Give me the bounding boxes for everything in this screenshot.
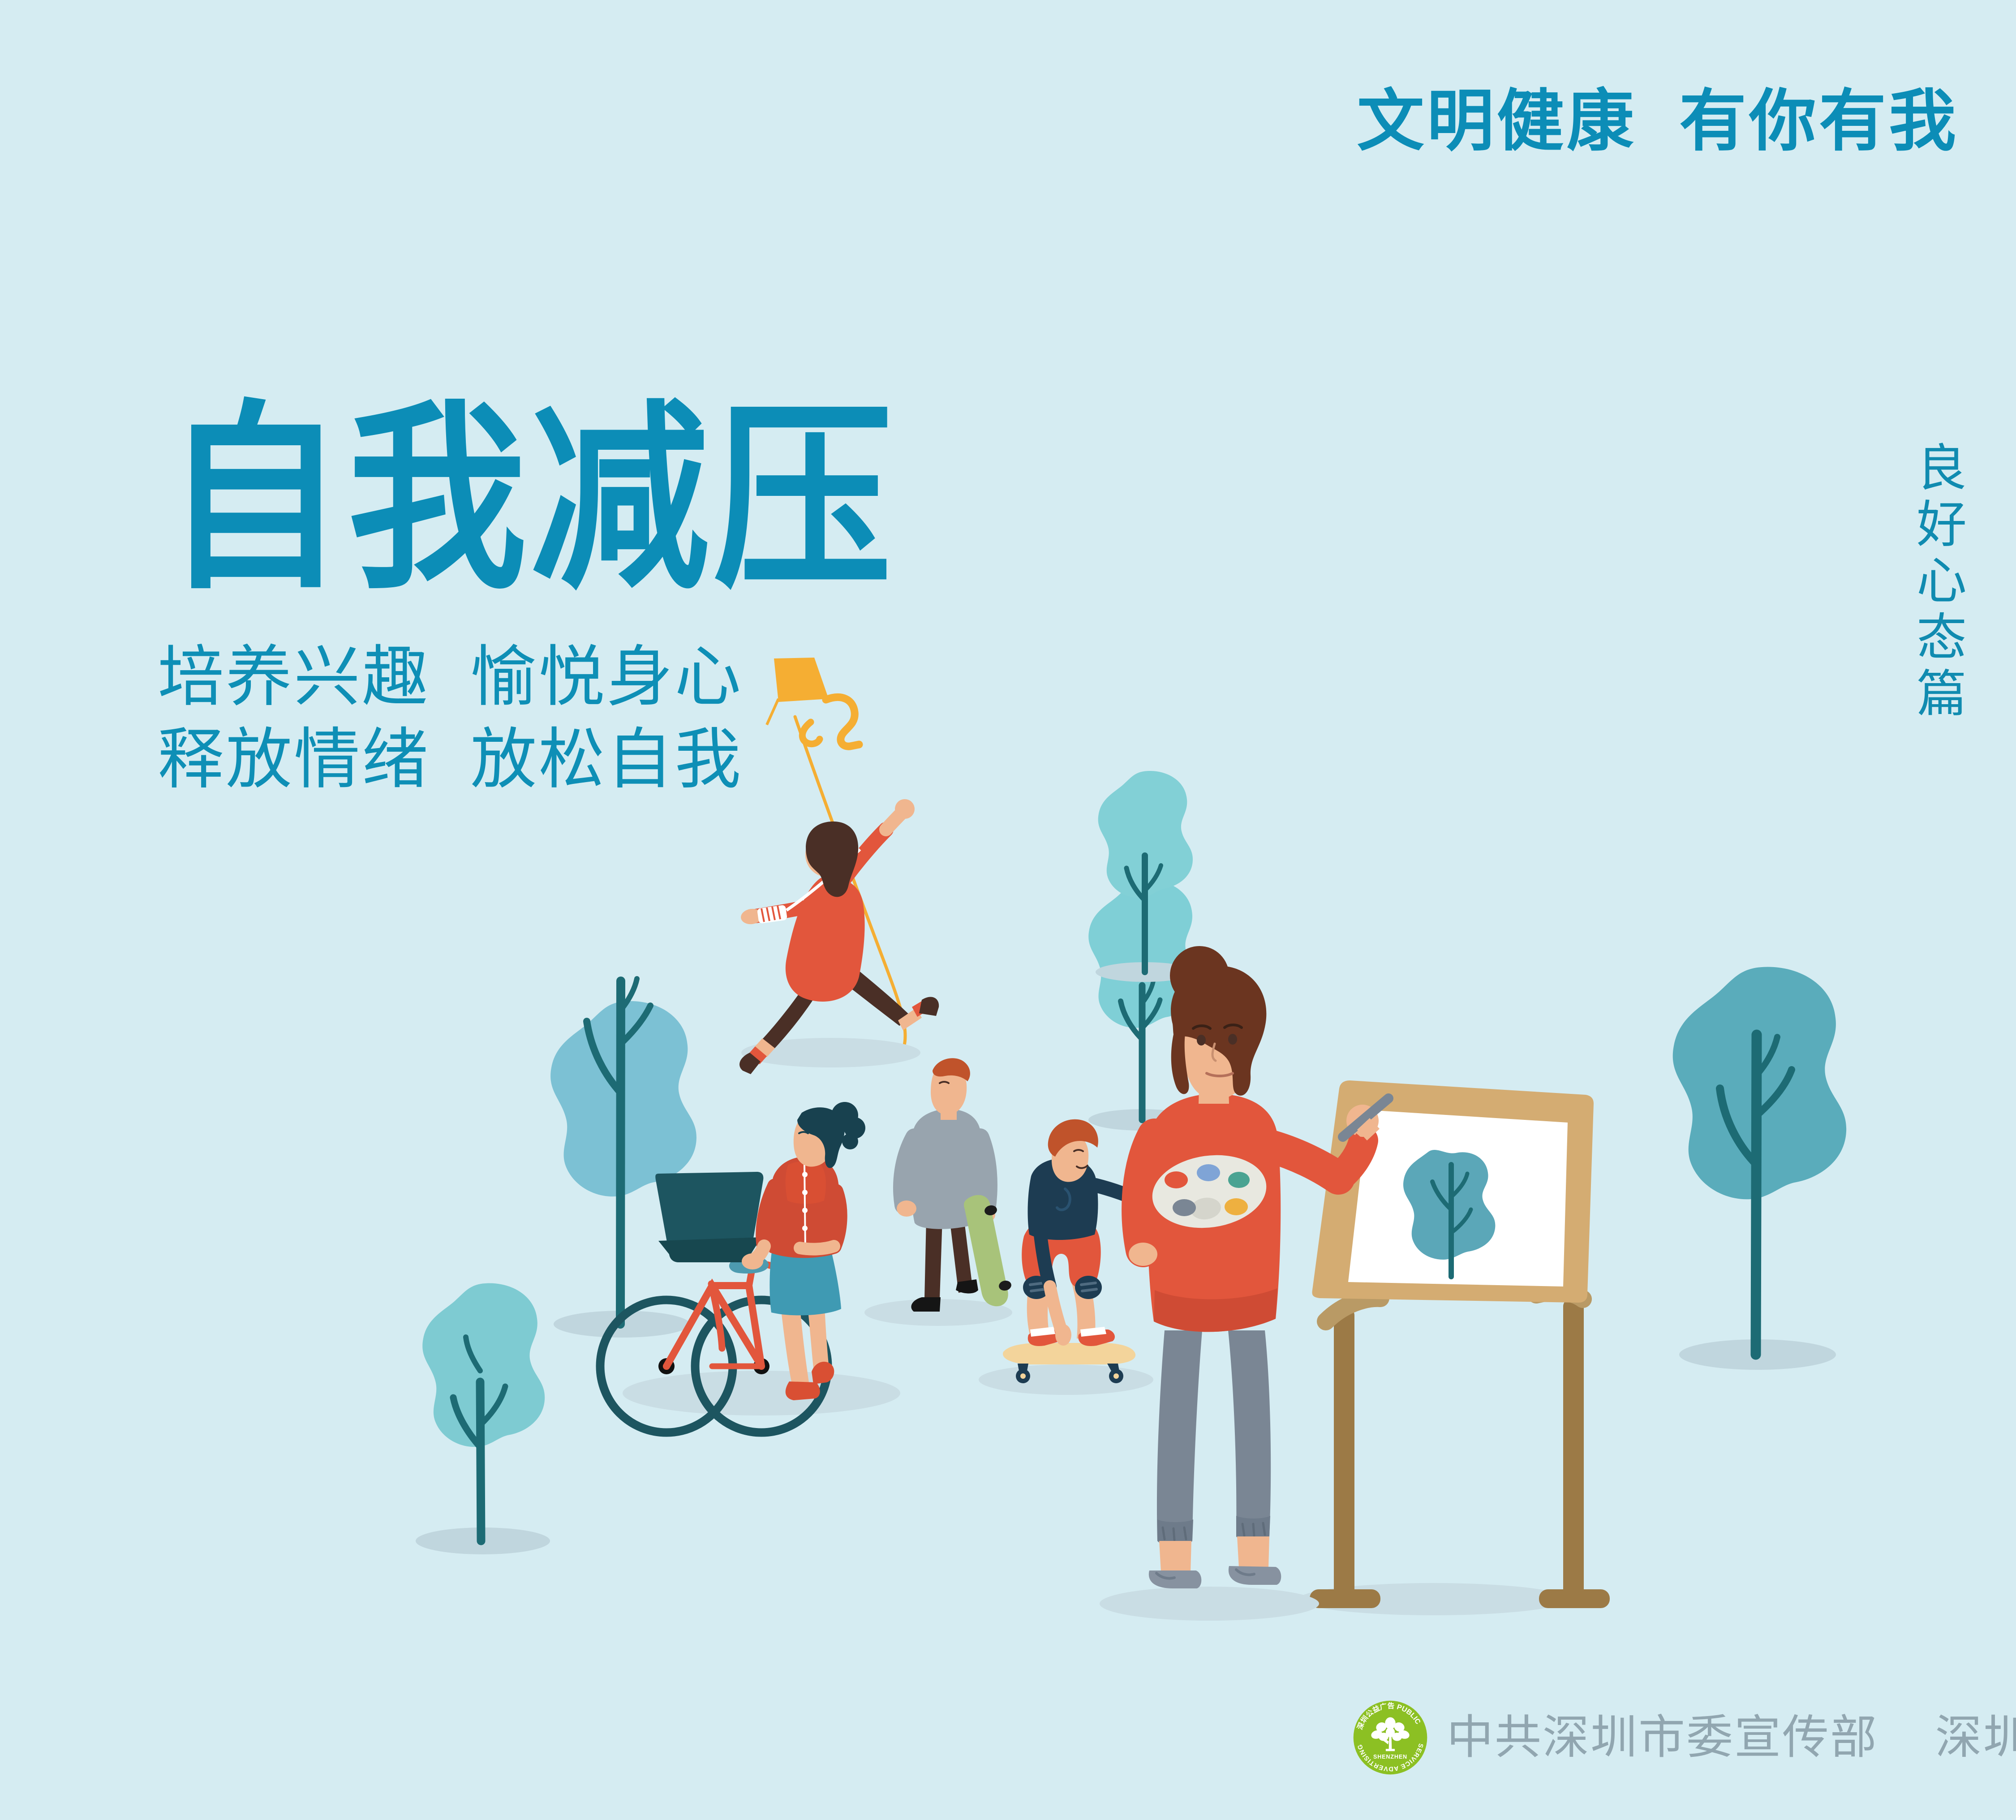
tree-far-left [416,1283,550,1554]
kite-icon [767,658,905,1047]
tree-center-back [1096,771,1194,982]
tree-middle [1088,880,1199,1131]
kite-flying-woman [739,799,939,1074]
series-label: 良好心态篇 [1908,441,1967,723]
shenzhen-public-service-advertising-logo-icon: 深圳公益广告 PUBLIC SERVICE ADVERTISING SHENZH… [1353,1700,1428,1775]
bicycle [600,1172,828,1433]
paint-palette [1148,1148,1271,1235]
canvas-painting-tree [1403,1150,1495,1277]
subtitle-line-1: 培养兴趣 愉悦身心 [158,644,743,710]
skateboard [1003,1343,1135,1383]
footer-organizations: 中共深圳市委宣传部 深圳市文明办 [1447,1714,2016,1761]
tree-right [1673,967,1846,1370]
riding-skater [979,1119,1205,1395]
poster-root: 文明健康 有你有我 [0,0,2016,1820]
standing-skater [864,1058,1012,1326]
subtitle-line-2: 释放情绪 放松自我 [158,727,743,793]
svg-text:SHENZHEN: SHENZHEN [1373,1754,1407,1760]
illustration-scene [0,0,2016,1820]
footer: 深圳公益广告 PUBLIC SERVICE ADVERTISING SHENZH… [1353,1700,2016,1775]
painter-woman [1100,946,1388,1621]
tree-left [550,979,696,1338]
header-slogan: 文明健康 有你有我 [1357,87,1959,155]
bicycle-woman [600,1102,900,1433]
green-skateboard [964,1195,1012,1306]
easel [1299,1080,1610,1615]
page-title: 自我减压 [165,394,896,605]
